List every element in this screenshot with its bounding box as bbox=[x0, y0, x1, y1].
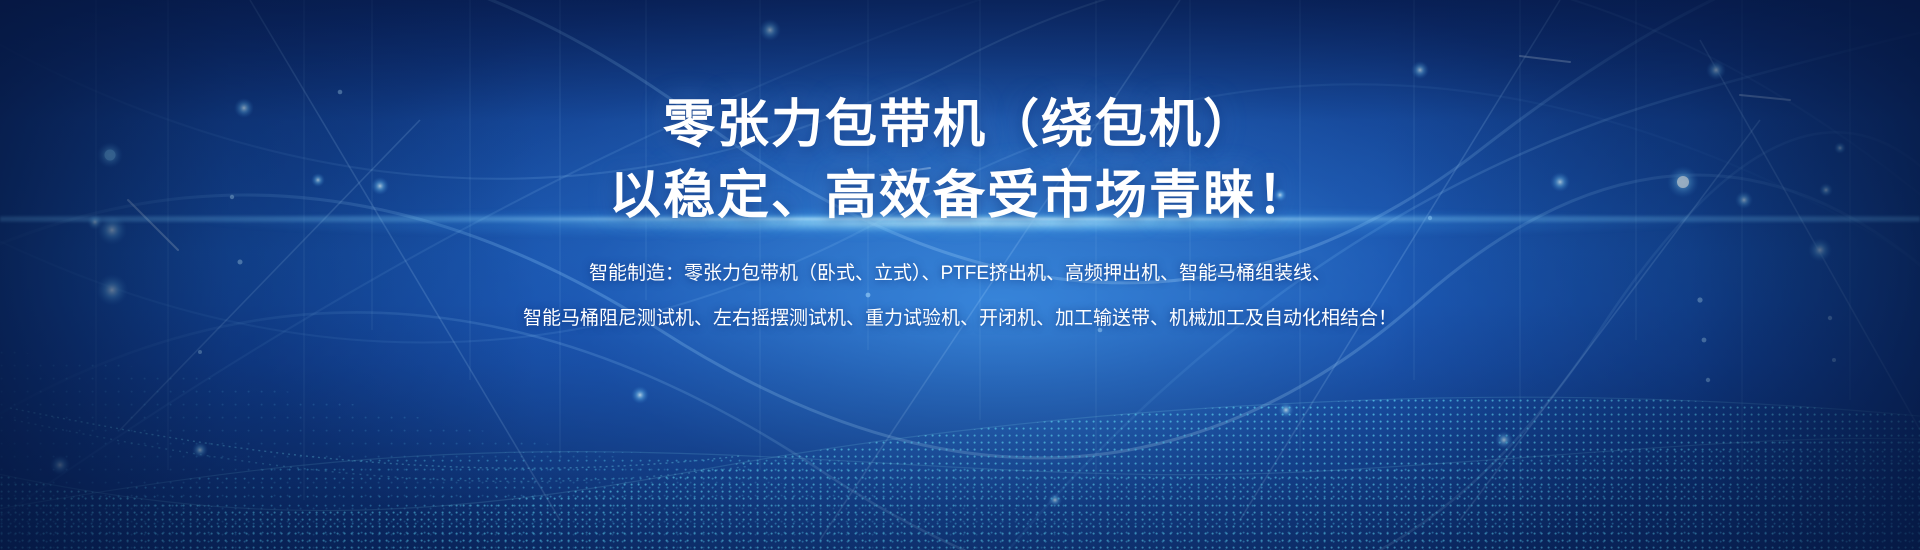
description-line-2: 智能马桶阻尼测试机、左右摇摆测试机、重力试验机、开闭机、加工输送带、机械加工及自… bbox=[523, 304, 1397, 333]
description-line-1: 智能制造：零张力包带机（卧式、立式）、PTFE挤出机、高频押出机、智能马桶组装线… bbox=[589, 259, 1331, 288]
headline-line-2: 以稳定、高效备受市场青睐！ bbox=[609, 163, 1311, 230]
headline-line-1: 零张力包带机（绕包机） bbox=[663, 92, 1257, 159]
banner-content: 零张力包带机（绕包机） 以稳定、高效备受市场青睐！ 智能制造：零张力包带机（卧式… bbox=[0, 0, 1920, 550]
hero-banner: 零张力包带机（绕包机） 以稳定、高效备受市场青睐！ 智能制造：零张力包带机（卧式… bbox=[0, 0, 1920, 550]
